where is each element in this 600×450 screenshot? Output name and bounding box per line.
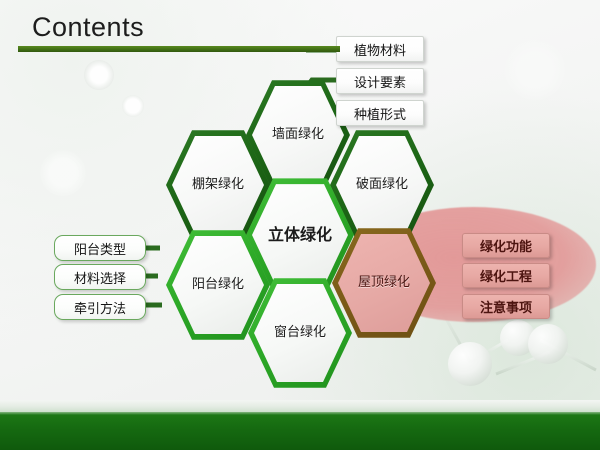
chip-label: 注意事项 — [480, 297, 532, 316]
hex-label: 阳台绿化 — [186, 277, 250, 292]
chip-greening-function[interactable]: 绿化功能 — [462, 233, 550, 258]
bokeh-circle-4 — [505, 40, 565, 100]
chip-label: 绿化功能 — [480, 236, 532, 255]
chip-label: 牵引方法 — [74, 298, 126, 317]
chip-label: 绿化工程 — [480, 266, 532, 285]
hex-label: 棚架绿化 — [186, 177, 250, 192]
chip-design-elements[interactable]: 设计要素 — [336, 68, 424, 94]
chip-traction-method[interactable]: 牵引方法 — [54, 294, 146, 320]
hex-label: 墙面绿化 — [266, 127, 330, 142]
chip-greening-engineering[interactable]: 绿化工程 — [462, 263, 550, 288]
footer-highlight — [0, 412, 600, 415]
page-title: Contents — [32, 14, 144, 41]
bokeh-circle-3 — [40, 150, 86, 196]
hex-label: 破面绿化 — [350, 177, 414, 192]
chip-planting-form[interactable]: 种植形式 — [336, 100, 424, 126]
chip-precautions[interactable]: 注意事项 — [462, 294, 550, 319]
chip-label: 阳台类型 — [74, 239, 126, 258]
footer-light-strip — [0, 400, 600, 412]
bokeh-circle-2 — [122, 95, 144, 117]
hex-label: 立体绿化 — [254, 226, 347, 245]
chip-balcony-type[interactable]: 阳台类型 — [54, 235, 146, 261]
title-underline-rule — [18, 46, 340, 52]
chip-label: 设计要素 — [354, 72, 406, 91]
hex-label: 窗台绿化 — [268, 325, 332, 340]
chip-material-selection[interactable]: 材料选择 — [54, 264, 146, 290]
slide-canvas: 墙面绿化 棚架绿化 破面绿化 立体绿化 阳台绿化 窗台绿化 屋顶绿化 植物材料 … — [0, 0, 600, 450]
chip-plant-material[interactable]: 植物材料 — [336, 36, 424, 62]
chip-label: 种植形式 — [354, 104, 406, 123]
chip-label: 材料选择 — [74, 268, 126, 287]
hex-label: 屋顶绿化 — [352, 275, 416, 290]
footer-bar — [0, 412, 600, 450]
bokeh-circle-1 — [84, 60, 114, 90]
chip-label: 植物材料 — [354, 40, 406, 59]
